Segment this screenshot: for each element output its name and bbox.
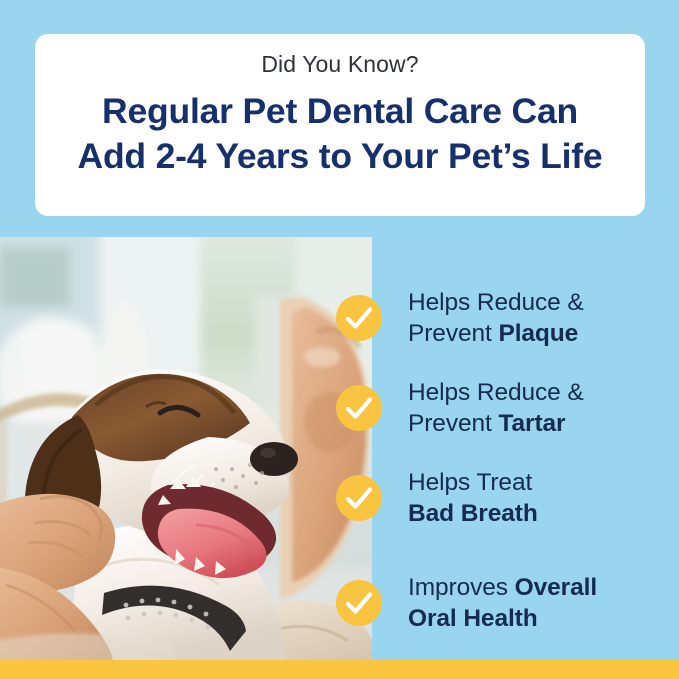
benefit-line-2: Prevent Tartar [408,408,584,439]
benefit-line-2-bold: Oral Health [408,605,538,632]
benefit-text: Improves Overall Oral Health [408,572,597,634]
benefit-line-2: Prevent Plaque [408,318,584,349]
benefit-text: Helps Reduce & Prevent Tartar [408,377,584,439]
benefit-line-2-bold: Tartar [498,410,565,437]
benefit-line-1: Helps Reduce & [408,287,584,318]
check-icon [336,580,382,626]
benefit-line-1: Helps Treat [408,467,538,498]
headline-line-1: Regular Pet Dental Care Can [41,89,639,134]
eyebrow-text: Did You Know? [35,47,645,81]
benefit-line-2-normal: Prevent [408,410,498,437]
benefit-item-oral-health: Improves Overall Oral Health [336,572,679,634]
dog-photo [0,237,372,660]
benefit-line-2: Oral Health [408,603,597,634]
benefit-line-2-normal: Prevent [408,320,498,347]
benefit-line-2-bold: Bad Breath [408,500,538,527]
check-icon [336,295,382,341]
benefit-line-1-bold: Overall [515,574,597,601]
benefit-line-1: Improves Overall [408,572,597,603]
benefit-text: Helps Reduce & Prevent Plaque [408,287,584,349]
check-icon [336,385,382,431]
header-card: Did You Know? Regular Pet Dental Care Ca… [35,34,645,216]
benefit-line-2-bold: Plaque [498,320,578,347]
benefit-text: Helps Treat Bad Breath [408,467,538,529]
benefit-item-plaque: Helps Reduce & Prevent Plaque [336,287,679,349]
benefits-list: Helps Reduce & Prevent Plaque Helps Redu… [336,237,679,660]
benefit-line-1: Helps Reduce & [408,377,584,408]
bottom-accent-bar [0,660,679,679]
page-title: Regular Pet Dental Care Can Add 2-4 Year… [35,89,645,179]
benefit-item-tartar: Helps Reduce & Prevent Tartar [336,377,679,439]
check-icon [336,475,382,521]
benefit-item-bad-breath: Helps Treat Bad Breath [336,467,679,529]
headline-line-2: Add 2-4 Years to Your Pet’s Life [41,134,639,179]
benefit-line-1-normal: Improves [408,574,515,601]
benefit-line-2: Bad Breath [408,498,538,529]
infographic-root: Did You Know? Regular Pet Dental Care Ca… [0,0,679,679]
